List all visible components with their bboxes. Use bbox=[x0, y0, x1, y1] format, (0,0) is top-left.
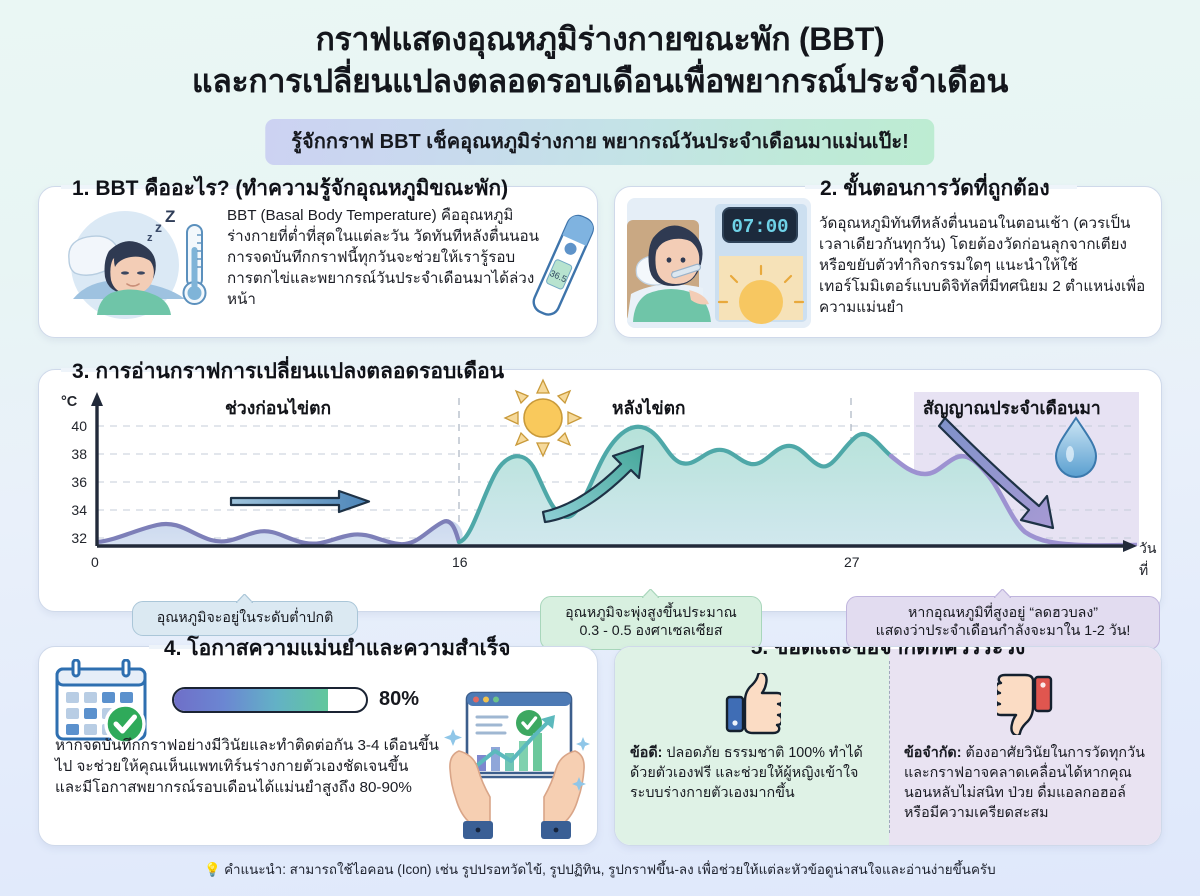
woman-sleeping-illustration: z z Z bbox=[53, 207, 229, 323]
callout-premenstrual: หากอุณหภูมิที่สูงอยู่ “ลดฮวบลง” แสดงว่าป… bbox=[846, 596, 1160, 650]
callout-tip-2 bbox=[642, 589, 659, 598]
accuracy-progress-label: 80% bbox=[379, 688, 419, 711]
phase-label-follicular: ช่วงก่อนไข่ตก bbox=[225, 394, 331, 422]
hands-holding-tablet-illustration bbox=[443, 689, 591, 839]
thumbs-down-icon bbox=[997, 673, 1053, 735]
y-axis-arrow bbox=[91, 392, 103, 406]
callout-luteal-line1: อุณหภูมิจะพุ่งสูงขึ้นประมาณ bbox=[555, 604, 747, 622]
pros-lead: ข้อดี: bbox=[630, 745, 662, 761]
callout-tip-1 bbox=[236, 594, 253, 603]
infographic-page: กราฟแสดงอุณหภูมิร่างกายขณะพัก (BBT) และก… bbox=[0, 0, 1200, 896]
phase-label-luteal: หลังไข่ตก bbox=[612, 394, 686, 422]
calendar-check-icon bbox=[53, 659, 157, 745]
section-4-title: 4. โอกาสความแม่นยำและความสำเร็จ bbox=[155, 632, 519, 665]
section-4-body: หากจดบันทึกกราฟอย่างมีวินัยและทำติดต่อกั… bbox=[55, 735, 439, 798]
callout-luteal-line2: 0.3 - 0.5 องศาเซลเซียส bbox=[555, 622, 747, 640]
callout-luteal: อุณหภูมิจะพุ่งสูงขึ้นประมาณ 0.3 - 0.5 อง… bbox=[540, 596, 762, 650]
follicular-trend-arrow bbox=[231, 491, 369, 512]
page-title: กราฟแสดงอุณหภูมิร่างกายขณะพัก (BBT) และก… bbox=[0, 18, 1200, 102]
title-line-2: และการเปลี่ยนแปลงตลอดรอบเดือนเพื่อพยากรณ… bbox=[0, 60, 1200, 102]
y-tick-40: 40 bbox=[61, 418, 87, 434]
sun-icon bbox=[505, 380, 581, 456]
y-tick-32: 32 bbox=[61, 530, 87, 546]
pros-body: ปลอดภัย ธรรมชาติ 100% ทำได้ด้วยตัวเองฟรี… bbox=[630, 745, 863, 801]
footer-tip: 💡คำแนะนำ: สามารถใช้ไอคอน (Icon) เช่น รูป… bbox=[0, 859, 1200, 880]
svg-text:z: z bbox=[147, 232, 153, 244]
y-tick-38: 38 bbox=[61, 446, 87, 462]
callout-premenstrual-line2: แสดงว่าประจำเดือนกำลังจะมาใน 1-2 วัน! bbox=[861, 622, 1145, 640]
title-line-1: กราฟแสดงอุณหภูมิร่างกายขณะพัก (BBT) bbox=[0, 18, 1200, 60]
y-tick-34: 34 bbox=[61, 502, 87, 518]
alarm-clock-time: 07:00 bbox=[731, 216, 788, 238]
svg-text:Z: Z bbox=[165, 207, 175, 226]
svg-text:z: z bbox=[155, 219, 162, 235]
section-2-title: 2. ขั้นตอนการวัดที่ถูกต้อง bbox=[811, 172, 1059, 205]
section-4-panel: 4. โอกาสความแม่นยำและความสำเร็จ 80% หากจ… bbox=[38, 646, 598, 846]
cons-lead: ข้อจำกัด: bbox=[904, 745, 961, 761]
callout-premenstrual-line1: หากอุณหภูมิที่สูงอยู่ “ลดฮวบลง” bbox=[861, 604, 1145, 622]
subtitle-banner: รู้จักกราฟ BBT เช็คอุณหภูมิร่างกาย พยากร… bbox=[265, 119, 934, 165]
accuracy-progress-fill bbox=[174, 689, 328, 711]
x-tick-0: 0 bbox=[91, 554, 99, 570]
pros-text: ข้อดี: ปลอดภัย ธรรมชาติ 100% ทำได้ด้วยตั… bbox=[630, 743, 880, 803]
section-1-title: 1. BBT คืออะไร? (ทำความรู้จักอุณหภูมิขณะ… bbox=[63, 172, 517, 205]
pros-cons-divider bbox=[889, 661, 890, 833]
section-2-body: วัดอุณหภูมิทันทีหลังตื่นนอนในตอนเช้า (คว… bbox=[819, 213, 1149, 318]
x-tick-16: 16 bbox=[452, 554, 468, 570]
x-axis-label: วันที่ bbox=[1139, 538, 1163, 582]
section-3-title: 3. การอ่านกราฟการเปลี่ยนแปลงตลอดรอบเดือน bbox=[63, 355, 513, 388]
thumbs-up-icon bbox=[725, 673, 781, 735]
section-5-panel: ข้อดี: ปลอดภัย ธรรมชาติ 100% ทำได้ด้วยตั… bbox=[614, 646, 1162, 846]
cons-text: ข้อจำกัด: ต้องอาศัยวินัยในการวัดทุกวัน แ… bbox=[904, 743, 1154, 823]
y-axis-unit: °C bbox=[61, 394, 77, 410]
woman-measuring-temperature-illustration: 07:00 bbox=[627, 198, 811, 328]
accuracy-progress-bar bbox=[172, 687, 368, 713]
section-3-panel: 3. การอ่านกราฟการเปลี่ยนแปลงตลอดรอบเดือน bbox=[38, 369, 1162, 612]
footer-tip-text: คำแนะนำ: สามารถใช้ไอคอน (Icon) เช่น รูปป… bbox=[224, 862, 996, 877]
callout-tip-3 bbox=[994, 589, 1011, 598]
section-1-panel: 1. BBT คืออะไร? (ทำความรู้จักอุณหภูมิขณะ… bbox=[38, 186, 598, 338]
x-tick-27: 27 bbox=[844, 554, 860, 570]
section-2-panel: 2. ขั้นตอนการวัดที่ถูกต้อง 07:00 bbox=[614, 186, 1162, 338]
y-tick-36: 36 bbox=[61, 474, 87, 490]
callout-follicular-text: อุณหภูมิจะอยู่ในระดับต่ำปกติ bbox=[157, 610, 334, 626]
section-1-body: BBT (Basal Body Temperature) คืออุณหภูมิ… bbox=[227, 205, 539, 310]
section-5-title: 5. ข้อดีและข้อจำกัดที่ควรระวัง bbox=[742, 646, 1035, 664]
lightbulb-icon: 💡 bbox=[204, 862, 221, 877]
bbt-chart: °C 40 38 36 34 32 0 16 27 วันที่ ช่วงก่อ… bbox=[39, 370, 1163, 613]
phase-label-premenstrual: สัญญาณประจำเดือนมา bbox=[923, 394, 1101, 422]
